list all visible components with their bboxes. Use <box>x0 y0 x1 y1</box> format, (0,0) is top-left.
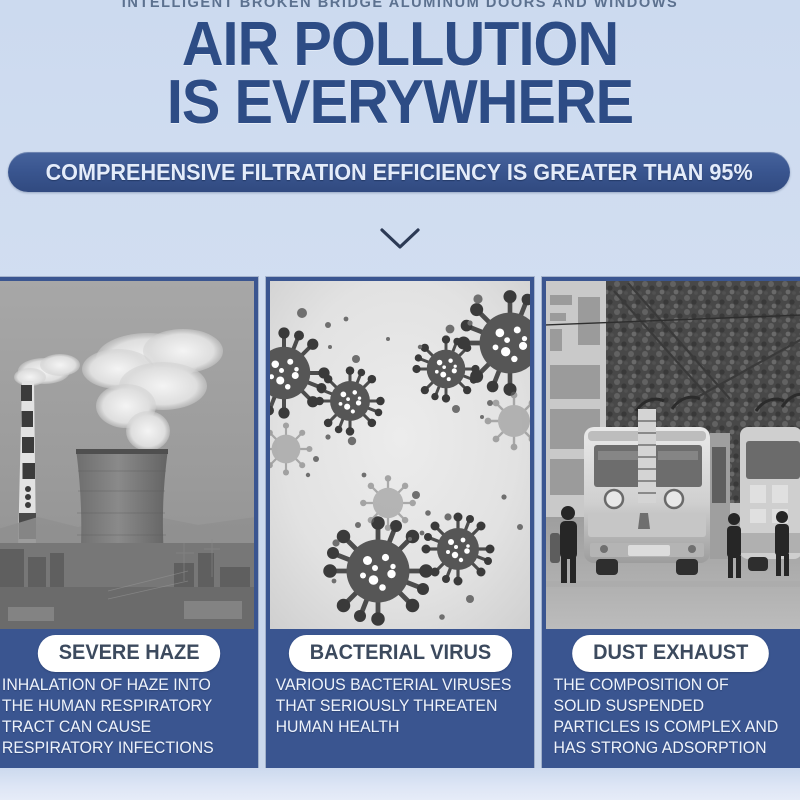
card-dust-exhaust[interactable]: DUST EXHAUST THE COMPOSITION OF SOLID SU… <box>542 277 800 768</box>
infographic-page: INTELLIGENT BROKEN BRIDGE ALUMINUM DOORS… <box>0 0 800 800</box>
card-label-severe-haze: SEVERE HAZE <box>38 635 221 672</box>
card-label-wrap: SEVERE HAZE <box>0 629 258 673</box>
filtration-efficiency-banner: COMPREHENSIVE FILTRATION EFFICIENCY IS G… <box>8 152 790 192</box>
chevron-down-icon <box>0 226 800 252</box>
pollution-cards-row: SEVERE HAZE INHALATION OF HAZE INTO THE … <box>0 277 800 768</box>
card-label-wrap: DUST EXHAUST <box>542 629 800 673</box>
bottom-strip <box>0 768 800 800</box>
card-body-bacterial-virus: VARIOUS BACTERIAL VIRUSES THAT SERIOUSLY… <box>266 673 523 768</box>
card-body-dust-exhaust: THE COMPOSITION OF SOLID SUSPENDED PARTI… <box>542 673 790 768</box>
card-label-wrap: BACTERIAL VIRUS <box>266 629 534 673</box>
card-bacterial-virus[interactable]: BACTERIAL VIRUS VARIOUS BACTERIAL VIRUSE… <box>266 277 534 768</box>
card-severe-haze[interactable]: SEVERE HAZE INHALATION OF HAZE INTO THE … <box>0 277 258 768</box>
banner-label: COMPREHENSIVE FILTRATION EFFICIENCY IS G… <box>45 159 752 186</box>
industrial-cooling-tower-photo <box>0 281 254 629</box>
card-label-dust-exhaust: DUST EXHAUST <box>572 635 769 672</box>
city-street-buses-exhaust-photo <box>546 281 800 629</box>
card-label-bacterial-virus: BACTERIAL VIRUS <box>288 635 511 672</box>
bacteria-virus-particles-illustration <box>270 281 530 629</box>
headline-line-1: AIR POLLUTION <box>28 16 772 74</box>
headline-line-2: IS EVERYWHERE <box>28 74 772 132</box>
page-title: AIR POLLUTION IS EVERYWHERE <box>28 16 772 131</box>
card-body-severe-haze: INHALATION OF HAZE INTO THE HUMAN RESPIR… <box>0 673 248 768</box>
